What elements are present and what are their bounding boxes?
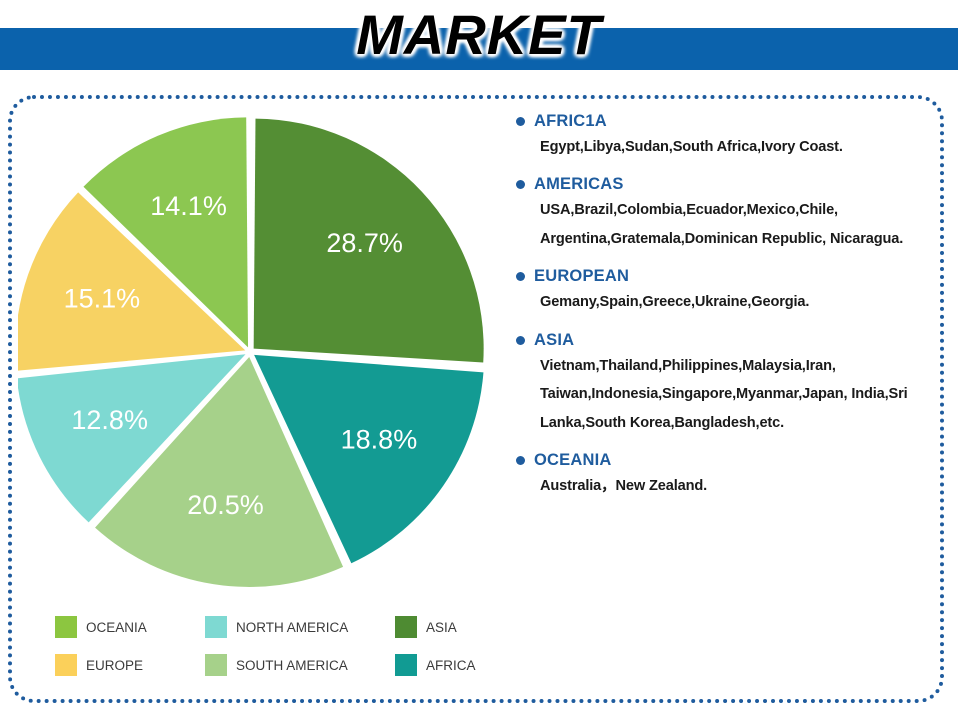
region-block-afric1a: AFRIC1AEgypt,Libya,Sudan,South Africa,Iv… <box>516 112 940 161</box>
region-country-list: USA,Brazil,Colombia,Ecuador,Mexico,Chile… <box>540 196 940 253</box>
legend-item-africa[interactable]: AFRICA <box>395 654 515 676</box>
region-heading: ASIA <box>516 331 940 350</box>
legend-swatch-icon <box>395 654 417 676</box>
region-list: AFRIC1AEgypt,Libya,Sudan,South Africa,Iv… <box>516 112 940 515</box>
chart-legend: OCEANIANORTH AMERICAASIAEUROPESOUTH AMER… <box>55 608 515 686</box>
legend-swatch-icon <box>55 654 77 676</box>
region-title: EUROPEAN <box>534 267 629 286</box>
region-country-list: Australia，New Zealand. <box>540 472 940 500</box>
pie-slice-label-europe: 15.1% <box>64 284 141 314</box>
region-block-european: EUROPEANGemany,Spain,Greece,Ukraine,Geor… <box>516 267 940 316</box>
bullet-icon <box>516 336 525 345</box>
pie-slice-label-asia: 28.7% <box>326 228 403 258</box>
region-title: OCEANIA <box>534 451 612 470</box>
legend-item-label: OCEANIA <box>86 620 147 635</box>
page-title: MARKET <box>0 2 958 67</box>
region-heading: AMERICAS <box>516 175 940 194</box>
legend-swatch-icon <box>205 654 227 676</box>
pie-slice-label-north-america: 12.8% <box>71 405 148 435</box>
region-heading: EUROPEAN <box>516 267 940 286</box>
region-country-list: Egypt,Libya,Sudan,South Africa,Ivory Coa… <box>540 133 940 161</box>
pie-slice-label-africa: 18.8% <box>341 424 418 454</box>
pie-chart-svg: 28.7%18.8%20.5%12.8%15.1%14.1% <box>18 112 488 594</box>
legend-item-south-america[interactable]: SOUTH AMERICA <box>205 654 395 676</box>
pie-chart: 28.7%18.8%20.5%12.8%15.1%14.1% <box>18 112 488 594</box>
region-heading: AFRIC1A <box>516 112 940 131</box>
region-country-list: Vietnam,Thailand,Philippines,Malaysia,Ir… <box>540 352 940 437</box>
legend-item-label: AFRICA <box>426 658 476 673</box>
legend-item-north-america[interactable]: NORTH AMERICA <box>205 616 395 638</box>
legend-item-asia[interactable]: ASIA <box>395 616 515 638</box>
pie-slice-label-oceania: 14.1% <box>150 191 227 221</box>
region-title: ASIA <box>534 331 574 350</box>
region-heading: OCEANIA <box>516 451 940 470</box>
region-title: AMERICAS <box>534 175 624 194</box>
legend-item-europe[interactable]: EUROPE <box>55 654 205 676</box>
legend-item-label: ASIA <box>426 620 457 635</box>
legend-item-oceania[interactable]: OCEANIA <box>55 616 205 638</box>
legend-item-label: EUROPE <box>86 658 143 673</box>
pie-slice-label-south-america: 20.5% <box>187 490 264 520</box>
legend-swatch-icon <box>395 616 417 638</box>
region-block-oceania: OCEANIAAustralia，New Zealand. <box>516 451 940 500</box>
legend-swatch-icon <box>205 616 227 638</box>
bullet-icon <box>516 117 525 126</box>
region-block-asia: ASIAVietnam,Thailand,Philippines,Malaysi… <box>516 331 940 437</box>
region-block-americas: AMERICASUSA,Brazil,Colombia,Ecuador,Mexi… <box>516 175 940 253</box>
bullet-icon <box>516 180 525 189</box>
bullet-icon <box>516 456 525 465</box>
legend-item-label: NORTH AMERICA <box>236 620 348 635</box>
legend-item-label: SOUTH AMERICA <box>236 658 348 673</box>
region-title: AFRIC1A <box>534 112 607 131</box>
legend-swatch-icon <box>55 616 77 638</box>
region-country-list: Gemany,Spain,Greece,Ukraine,Georgia. <box>540 288 940 316</box>
bullet-icon <box>516 272 525 281</box>
